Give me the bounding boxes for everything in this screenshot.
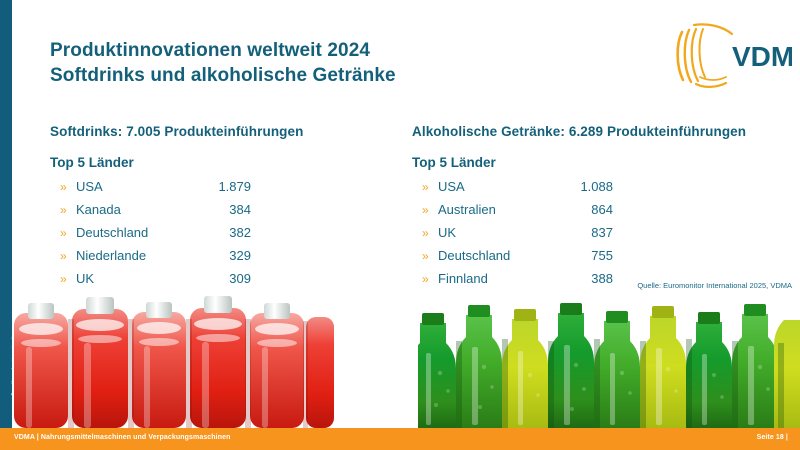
country-list: » USA 1.879 » Kanada 384 » Deutschland 3… xyxy=(50,179,390,294)
list-item: » Australien 864 xyxy=(412,202,792,225)
column-subheading: Top 5 Länder xyxy=(412,155,792,170)
page-number: Seite 18 | xyxy=(757,434,788,441)
country-value: 755 xyxy=(553,248,613,263)
column-alcoholic: Alkoholische Getränke: 6.289 Produkteinf… xyxy=(412,124,792,294)
country-value: 864 xyxy=(553,202,613,217)
country-value: 329 xyxy=(191,248,251,263)
list-item: » UK 309 xyxy=(50,271,390,294)
vdma-wordmark: VDMA xyxy=(732,41,792,72)
chevron-icon: » xyxy=(412,249,438,263)
chevron-icon: » xyxy=(50,203,76,217)
chevron-icon: » xyxy=(412,226,438,240)
list-item: » Deutschland 755 xyxy=(412,248,792,271)
column-softdrinks: Softdrinks: 7.005 Produkteinführungen To… xyxy=(50,124,390,294)
list-item: » Deutschland 382 xyxy=(50,225,390,248)
chevron-icon: » xyxy=(412,180,438,194)
country-label: USA xyxy=(438,179,553,194)
page-title: Produktinnovationen weltweit 2024 Softdr… xyxy=(50,38,396,88)
footer-bar: VDMA | Nahrungsmittelmaschinen und Verpa… xyxy=(0,428,800,450)
list-item: » Kanada 384 xyxy=(50,202,390,225)
column-heading: Softdrinks: 7.005 Produkteinführungen xyxy=(50,124,390,139)
country-list: » USA 1.088 » Australien 864 » UK 837 » … xyxy=(412,179,792,294)
chevron-icon: » xyxy=(50,180,76,194)
chevron-icon: » xyxy=(50,249,76,263)
list-item: » USA 1.088 xyxy=(412,179,792,202)
source-citation: Quelle: Euromonitor International 2025, … xyxy=(637,281,792,290)
country-label: Deutschland xyxy=(76,225,191,240)
list-item: » USA 1.879 xyxy=(50,179,390,202)
softdrinks-photo xyxy=(12,295,334,428)
column-heading: Alkoholische Getränke: 6.289 Produkteinf… xyxy=(412,124,792,139)
country-value: 309 xyxy=(191,271,251,286)
country-value: 384 xyxy=(191,202,251,217)
list-item: » UK 837 xyxy=(412,225,792,248)
chevron-icon: » xyxy=(50,272,76,286)
country-value: 1.879 xyxy=(191,179,251,194)
country-label: Finnland xyxy=(438,271,553,286)
country-label: UK xyxy=(76,271,191,286)
page-title-line-2: Softdrinks und alkoholische Getränke xyxy=(50,63,396,88)
slide-canvas: Quelle: shutterstock Produktinnovationen… xyxy=(0,0,800,450)
country-label: Deutschland xyxy=(438,248,553,263)
chevron-icon: » xyxy=(412,272,438,286)
country-label: UK xyxy=(438,225,553,240)
list-item: » Niederlande 329 xyxy=(50,248,390,271)
country-label: Niederlande xyxy=(76,248,191,263)
chevron-icon: » xyxy=(50,226,76,240)
vdma-logo: VDMA xyxy=(674,22,792,90)
country-value: 1.088 xyxy=(553,179,613,194)
footer-label: VDMA | Nahrungsmittelmaschinen und Verpa… xyxy=(14,434,230,441)
alcoholic-beverages-photo xyxy=(418,295,800,428)
page-title-line-1: Produktinnovationen weltweit 2024 xyxy=(50,38,396,63)
country-value: 388 xyxy=(553,271,613,286)
chevron-icon: » xyxy=(412,203,438,217)
country-label: Australien xyxy=(438,202,553,217)
country-value: 837 xyxy=(553,225,613,240)
column-subheading: Top 5 Länder xyxy=(50,155,390,170)
country-label: USA xyxy=(76,179,191,194)
country-value: 382 xyxy=(191,225,251,240)
country-label: Kanada xyxy=(76,202,191,217)
